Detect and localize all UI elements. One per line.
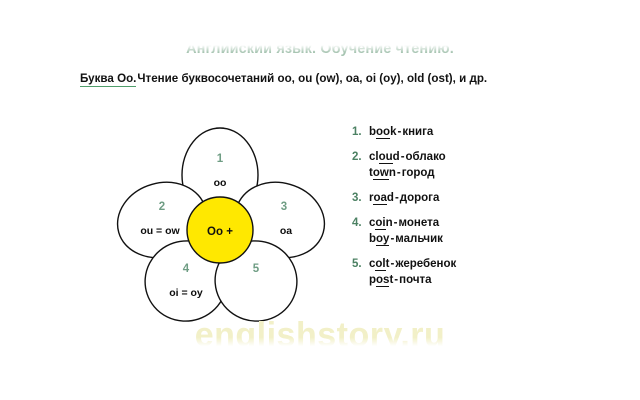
word-entry: post-почта	[369, 272, 602, 288]
flower-petal-4-label: oi = oy	[169, 287, 203, 299]
list-item: 3. road-дорога	[352, 190, 602, 206]
list-item-number: 5.	[352, 256, 369, 272]
list-item-words: road-дорога	[369, 190, 602, 206]
word-list: 1. book-книга 2. cloud-облако town-город…	[352, 124, 602, 297]
flower-core-label: Oo +	[207, 226, 233, 238]
list-item-words: colt-жеребенок post-почта	[369, 256, 602, 288]
flower-petal-1-number: 1	[217, 153, 224, 165]
subtitle-paragraph: Буква Оо.Чтение буквосочетаний oo, ou (o…	[80, 70, 560, 87]
word-prefix: b	[369, 126, 376, 138]
word-entry: coin-монета	[369, 215, 602, 231]
word-entry: cloud-облако	[369, 149, 602, 165]
slide-canvas: Английский язык. Обучение чтению. Буква …	[0, 0, 640, 400]
flower-diagram: 1 oo 2 ou = ow 3 oa 4 oi = oy 5 Oo +	[100, 120, 340, 335]
word-marked-letters: oa	[373, 192, 386, 205]
word-suffix: n	[386, 217, 393, 229]
list-item: 4. coin-монета boy-мальчик	[352, 215, 602, 247]
list-item-number: 3.	[352, 190, 369, 206]
flower-petal-5-number: 5	[253, 263, 260, 275]
word-entry: colt-жеребенок	[369, 256, 602, 272]
list-item: 5. colt-жеребенок post-почта	[352, 256, 602, 288]
flower-petal-2-number: 2	[159, 201, 165, 213]
word-marked-letters: oo	[376, 126, 390, 139]
list-item-number: 4.	[352, 215, 369, 231]
word-translation: жеребенок	[395, 258, 456, 270]
list-item-words: cloud-облако town-город	[369, 149, 602, 181]
flower-petal-2-label: ou = ow	[140, 225, 180, 237]
word-suffix: d	[387, 192, 394, 204]
word-prefix: cl	[369, 151, 379, 163]
subtitle-lead: Буква Оо.	[80, 72, 136, 87]
word-entry: book-книга	[369, 124, 602, 140]
word-entry: boy-мальчик	[369, 231, 602, 247]
page-title: Английский язык. Обучение чтению.	[0, 41, 640, 57]
word-marked-letters: oi	[375, 217, 385, 230]
word-suffix: n	[389, 167, 396, 179]
word-marked-letters: oy	[376, 233, 389, 246]
word-translation: дорога	[400, 192, 440, 204]
flower-petal-4-number: 4	[183, 263, 190, 275]
word-translation: облако	[406, 151, 446, 163]
flower-petal-3-label: oa	[280, 225, 292, 237]
watermark: englishstory.ru	[0, 316, 640, 355]
word-suffix: k	[390, 126, 396, 138]
word-entry: town-город	[369, 165, 602, 181]
word-marked-letters: ow	[373, 167, 389, 180]
word-marked-letters: ou	[379, 151, 393, 164]
list-item: 2. cloud-облако town-город	[352, 149, 602, 181]
list-item-words: coin-монета boy-мальчик	[369, 215, 602, 247]
word-prefix: b	[369, 233, 376, 245]
word-marked-letters: os	[376, 274, 389, 287]
list-item: 1. book-книга	[352, 124, 602, 140]
flower-petal-3-number: 3	[281, 201, 287, 213]
word-marked-letters: ol	[375, 258, 385, 271]
word-suffix: d	[393, 151, 400, 163]
word-entry: road-дорога	[369, 190, 602, 206]
word-translation: город	[402, 167, 435, 179]
list-item-number: 1.	[352, 124, 369, 140]
flower-petal-1-label: oo	[214, 177, 227, 189]
list-item-number: 2.	[352, 149, 369, 165]
list-item-words: book-книга	[369, 124, 602, 140]
word-prefix: p	[369, 274, 376, 286]
subtitle-rest: Чтение буквосочетаний oo, ou (ow), oa, o…	[137, 72, 487, 85]
word-translation: монета	[399, 217, 440, 229]
word-translation: почта	[399, 274, 431, 286]
word-translation: мальчик	[395, 233, 443, 245]
word-translation: книга	[402, 126, 433, 138]
